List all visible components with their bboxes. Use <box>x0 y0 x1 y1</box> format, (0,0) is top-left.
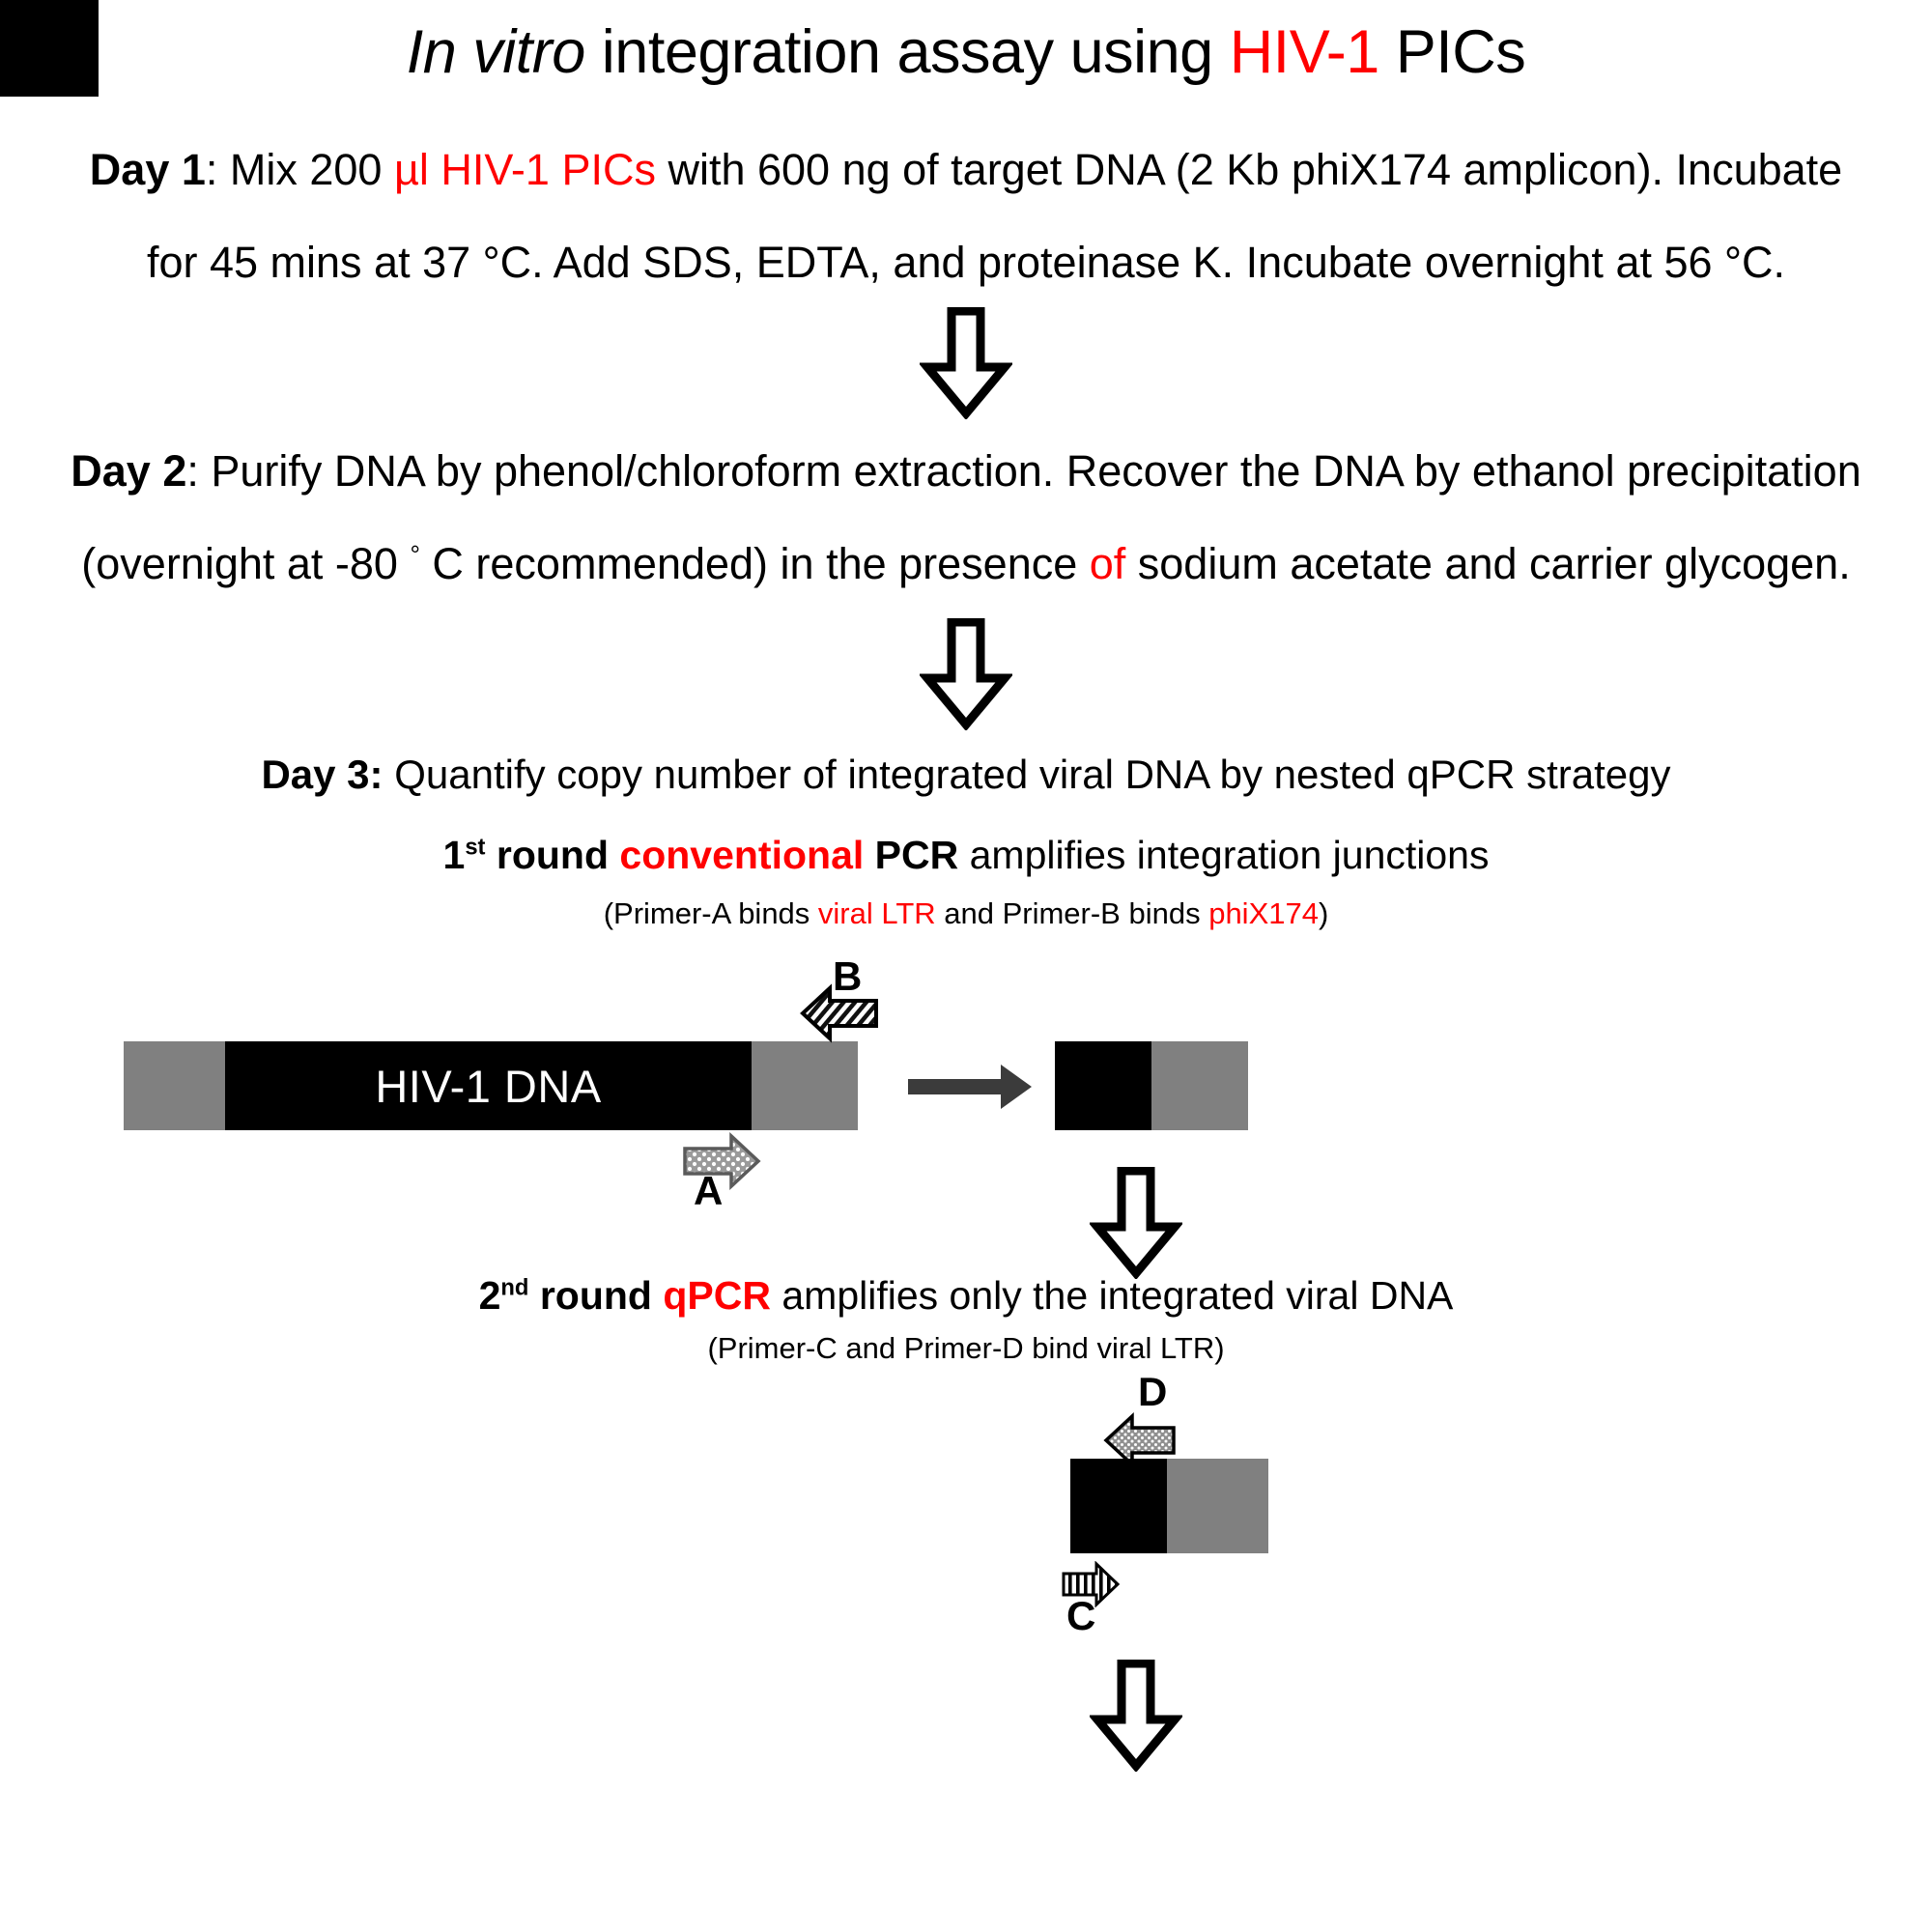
product2-viral-segment <box>1070 1459 1167 1553</box>
round2-heading: 2nd round qPCR amplifies only the integr… <box>0 1273 1932 1319</box>
product2-host-segment <box>1167 1459 1268 1553</box>
day1-label: Day 1 <box>90 145 206 194</box>
day2-label: Day 2 <box>71 446 186 496</box>
flow-arrow-down-3 <box>1090 1167 1182 1279</box>
day1-line-2: for 45 mins at 37 °C. Add SDS, EDTA, and… <box>0 216 1932 309</box>
day2-line-2: (overnight at -80 ° C recommended) in th… <box>0 518 1932 611</box>
round1-sub-b: and Primer-B binds <box>936 896 1209 930</box>
day2-line2-c: sodium acetate and carrier glycogen. <box>1125 539 1850 588</box>
day1-line1-b: with 600 ng of target DNA (2 Kb phiX174 … <box>656 145 1842 194</box>
flow-arrow-down-2 <box>920 618 1012 730</box>
flow-arrow-down-4 <box>1090 1660 1182 1772</box>
primer-a-label: A <box>694 1171 723 1211</box>
transition-arrow-right <box>908 1061 1034 1118</box>
title-italic-part: In vitro <box>407 18 585 86</box>
round1-bold-red: conventional <box>619 833 864 877</box>
primer-d-label: D <box>1138 1372 1167 1412</box>
round2-bold-red: qPCR <box>663 1273 771 1318</box>
product1-viral-segment <box>1055 1041 1151 1130</box>
product1-host-segment <box>1151 1041 1248 1130</box>
title-red-part: HIV-1 <box>1230 18 1379 86</box>
day2-line2-a: (overnight at -80 <box>81 539 410 588</box>
diagram-canvas: In vitro integration assay using HIV-1 P… <box>0 0 1932 1932</box>
day2-paragraph: Day 2: Purify DNA by phenol/chloroform e… <box>0 425 1932 611</box>
round1-sub-red-2: phiX174 <box>1208 896 1319 930</box>
flanking-dna-segment-left <box>124 1041 225 1130</box>
round1-ordinal-suffix: st <box>465 834 485 860</box>
round2-bold-a: round <box>528 1273 663 1318</box>
flow-arrow-down-1 <box>920 307 1012 419</box>
round1-sub-red-1: viral LTR <box>818 896 936 930</box>
round1-number: 1 <box>443 833 466 877</box>
day2-line2-b: C recommended) in the presence <box>420 539 1090 588</box>
day3-text: Quantify copy number of integrated viral… <box>384 752 1671 797</box>
title-plain-part-1: integration assay using <box>585 18 1230 86</box>
round2-number: 2 <box>479 1273 501 1318</box>
degree-symbol: ° <box>410 540 419 569</box>
day3-label: Day 3: <box>261 752 383 797</box>
viral-dna-segment: HIV-1 DNA <box>225 1041 752 1130</box>
round1-product-bar <box>1055 1041 1248 1130</box>
title-plain-part-2: PICs <box>1379 18 1526 86</box>
round1-primer-note: (Primer-A binds viral LTR and Primer-B b… <box>0 896 1932 931</box>
day2-line1-text: : Purify DNA by phenol/chloroform extrac… <box>186 446 1861 496</box>
round1-sub-a: (Primer-A binds <box>604 896 818 930</box>
day1-paragraph: Day 1: Mix 200 µl HIV-1 PICs with 600 ng… <box>0 124 1932 309</box>
day1-line-1: Day 1: Mix 200 µl HIV-1 PICs with 600 ng… <box>0 124 1932 216</box>
round2-ordinal-suffix: nd <box>500 1274 528 1300</box>
day1-line1-red: µl HIV-1 PICs <box>394 145 656 194</box>
flanking-dna-segment-right <box>752 1041 858 1130</box>
round1-plain: amplifies integration junctions <box>958 833 1489 877</box>
round1-heading: 1st round conventional PCR amplifies int… <box>0 833 1932 878</box>
round2-plain: amplifies only the integrated viral DNA <box>771 1273 1453 1318</box>
primer-c-label: C <box>1066 1596 1095 1636</box>
day1-line1-a: : Mix 200 <box>206 145 394 194</box>
round2-template-bar <box>1070 1459 1268 1553</box>
day2-line-1: Day 2: Purify DNA by phenol/chloroform e… <box>0 425 1932 518</box>
round1-bold-b: PCR <box>864 833 958 877</box>
day3-heading: Day 3: Quantify copy number of integrate… <box>0 752 1932 798</box>
day2-line2-red: of <box>1090 539 1126 588</box>
round1-sub-c: ) <box>1319 896 1328 930</box>
primer-b-label: B <box>833 956 862 997</box>
hiv-dna-bar-label: HIV-1 DNA <box>375 1060 601 1113</box>
round2-primer-note: (Primer-C and Primer-D bind viral LTR) <box>0 1331 1932 1366</box>
page-title: In vitro integration assay using HIV-1 P… <box>0 17 1932 87</box>
round1-bold-a: round <box>485 833 619 877</box>
hiv-dna-bar: HIV-1 DNA <box>124 1041 858 1130</box>
